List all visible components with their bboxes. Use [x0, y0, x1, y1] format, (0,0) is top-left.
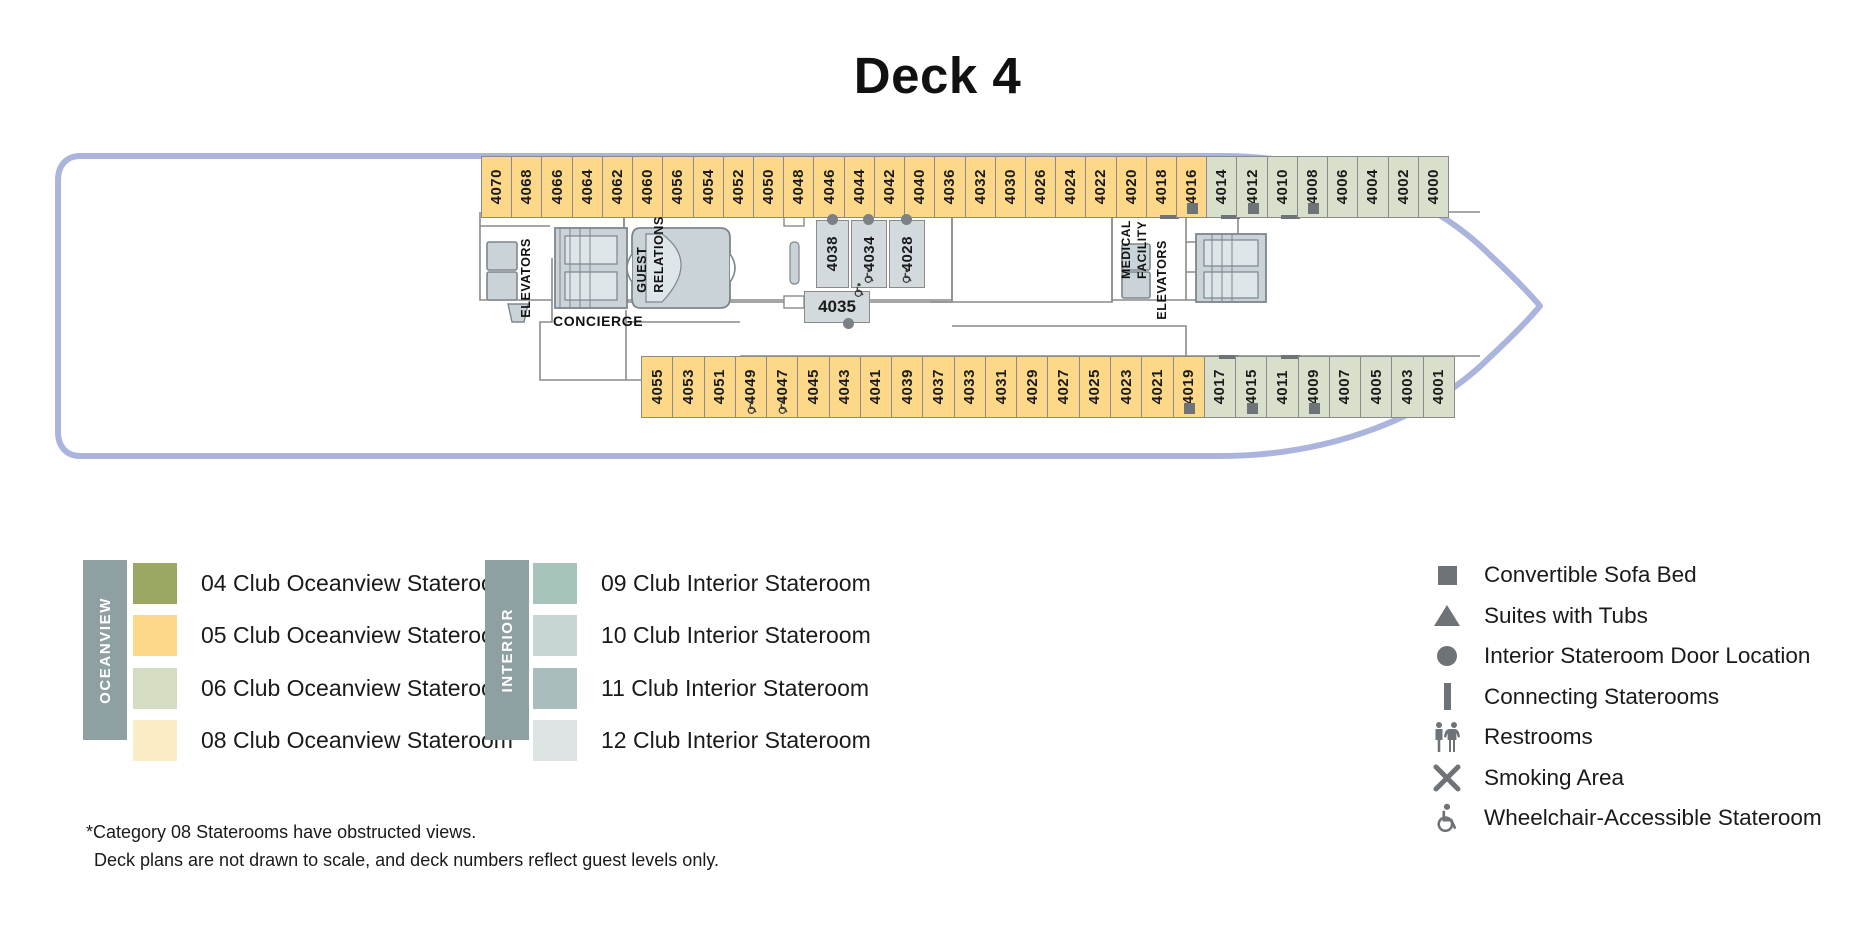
- cabin-4010[interactable]: 4010: [1267, 156, 1298, 218]
- legend-item: 05 Club Oceanview Stateroom: [133, 610, 528, 663]
- symbol-legend-label: Interior Stateroom Door Location: [1484, 643, 1810, 669]
- footnote: *Category 08 Staterooms have obstructed …: [86, 819, 719, 875]
- legend-item: 10 Club Interior Stateroom: [533, 610, 871, 663]
- cabin-number: 4034: [862, 236, 877, 271]
- wheelchair-icon: [899, 268, 915, 284]
- circle-icon: [901, 214, 912, 225]
- legend-item: 08 Club Oceanview Stateroom *: [133, 715, 528, 768]
- cabin-number: 4000: [1426, 169, 1441, 204]
- cabin-number: 4015: [1244, 369, 1259, 404]
- cabin-4060[interactable]: 4060: [632, 156, 663, 218]
- symbol-legend-label: Smoking Area: [1484, 765, 1624, 791]
- cabin-number: 4041: [868, 369, 883, 404]
- label-elevators-forward: ELEVATORS: [1155, 240, 1169, 320]
- cabin-number: 4043: [837, 369, 852, 404]
- square-icon: [1248, 203, 1259, 214]
- wheelchair-icon: [851, 282, 867, 298]
- mf-line1: MEDICAL: [1119, 220, 1133, 279]
- cabin-4040[interactable]: 4040: [904, 156, 935, 218]
- symbol-legend-item: Connecting Staterooms: [1424, 677, 1822, 718]
- cabin-number: 4054: [701, 169, 716, 204]
- cabin-4011[interactable]: 4011: [1266, 356, 1298, 418]
- page-title: Deck 4: [0, 46, 1875, 105]
- cabin-4017[interactable]: 4017: [1204, 356, 1236, 418]
- cabin-4042[interactable]: 4042: [874, 156, 905, 218]
- square-icon: [1184, 403, 1195, 414]
- cabin-4021[interactable]: 4021: [1141, 356, 1173, 418]
- oceanview-label: OCEANVIEW: [97, 597, 114, 704]
- cabin-4022[interactable]: 4022: [1085, 156, 1116, 218]
- cabin-number: 4062: [610, 169, 625, 204]
- cabin-number: 4027: [1056, 369, 1071, 404]
- cabin-4015[interactable]: 4015: [1235, 356, 1267, 418]
- cabin-4056[interactable]: 4056: [662, 156, 693, 218]
- cabin-4068[interactable]: 4068: [511, 156, 542, 218]
- legend-label: 12 Club Interior Stateroom: [601, 727, 871, 754]
- symbol-legend-label: Wheelchair-Accessible Stateroom: [1484, 805, 1822, 831]
- cabin-4028[interactable]: 4028: [889, 220, 925, 288]
- square-icon: [1309, 403, 1320, 414]
- cabin-number: 4033: [962, 369, 977, 404]
- cabin-4062[interactable]: 4062: [602, 156, 633, 218]
- cabin-number: 4060: [640, 169, 655, 204]
- cabin-number: 4053: [681, 369, 696, 404]
- vertical-bar-icon: [1424, 680, 1470, 714]
- cabin-number: 4008: [1305, 169, 1320, 204]
- cabin-number: 4029: [1025, 369, 1040, 404]
- cabin-number: 4044: [852, 169, 867, 204]
- legend-item: 09 Club Interior Stateroom: [533, 557, 871, 610]
- cabin-4064[interactable]: 4064: [572, 156, 603, 218]
- cabin-4004[interactable]: 4004: [1357, 156, 1388, 218]
- cabin-4048[interactable]: 4048: [783, 156, 814, 218]
- cabin-number: 4030: [1003, 169, 1018, 204]
- cabin-4035[interactable]: 4035: [804, 291, 870, 323]
- cabin-number: 4020: [1124, 169, 1139, 204]
- cabin-number: 4045: [806, 369, 821, 404]
- stateroom-row-starboard: 4055405340514049404740454043404140394037…: [641, 356, 1454, 418]
- label-medical-facility: MEDICAL FACILITY: [1118, 220, 1150, 279]
- cabin-4032[interactable]: 4032: [965, 156, 996, 218]
- cabin-number: 4021: [1150, 369, 1165, 404]
- cabin-number: 4031: [994, 369, 1009, 404]
- cabin-number: 4012: [1245, 169, 1260, 204]
- cabin-number: 4018: [1154, 169, 1169, 204]
- cabin-number: 4036: [942, 169, 957, 204]
- symbol-legend-label: Convertible Sofa Bed: [1484, 562, 1697, 588]
- legend-label: 06 Club Oceanview Stateroom: [201, 675, 513, 702]
- cabin-4000[interactable]: 4000: [1418, 156, 1449, 218]
- cabin-number: 4052: [731, 169, 746, 204]
- cabin-4005[interactable]: 4005: [1360, 356, 1392, 418]
- cabin-4023[interactable]: 4023: [1110, 356, 1142, 418]
- cabin-number: 4023: [1119, 369, 1134, 404]
- restrooms-icon: [1424, 720, 1470, 754]
- legend-label: 10 Club Interior Stateroom: [601, 622, 871, 649]
- cabin-number: 4070: [489, 169, 504, 204]
- cabin-4029[interactable]: 4029: [1016, 356, 1048, 418]
- cabin-4031[interactable]: 4031: [985, 356, 1017, 418]
- cabin-number: 4046: [822, 169, 837, 204]
- cabin-number: 4068: [519, 169, 534, 204]
- cabin-number: 4035: [818, 297, 856, 317]
- cabin-4038[interactable]: 4038: [816, 220, 849, 288]
- symbol-legend-label: Connecting Staterooms: [1484, 684, 1719, 710]
- cabin-number: 4016: [1184, 169, 1199, 204]
- cabin-4034[interactable]: 4034: [851, 220, 887, 288]
- cabin-number: 4019: [1181, 369, 1196, 404]
- square-icon: [1424, 558, 1470, 592]
- legend-swatch: [133, 563, 177, 604]
- legend-category-oceanview: OCEANVIEW: [83, 560, 127, 740]
- cabin-4051[interactable]: 4051: [704, 356, 736, 418]
- cabin-4049[interactable]: 4049: [735, 356, 767, 418]
- cabin-4047[interactable]: 4047: [766, 356, 798, 418]
- cabin-number: 4064: [580, 169, 595, 204]
- cabin-4002[interactable]: 4002: [1388, 156, 1419, 218]
- cabin-number: 4051: [712, 369, 727, 404]
- symbol-legend-item: Restrooms: [1424, 717, 1822, 758]
- wheelchair-icon: [744, 399, 760, 415]
- cabin-number: 4010: [1275, 169, 1290, 204]
- cabin-4024[interactable]: 4024: [1055, 156, 1086, 218]
- interior-label: INTERIOR: [499, 608, 516, 692]
- stateroom-row-port: 4070406840664064406240604056405440524050…: [481, 156, 1448, 218]
- cabin-4007[interactable]: 4007: [1329, 356, 1361, 418]
- symbol-legend-item: Wheelchair-Accessible Stateroom: [1424, 798, 1822, 839]
- cabin-4039[interactable]: 4039: [891, 356, 923, 418]
- legend-item: 06 Club Oceanview Stateroom: [133, 662, 528, 715]
- cabin-number: 4001: [1431, 369, 1446, 404]
- circle-icon: [843, 318, 854, 329]
- cabin-number: 4024: [1063, 169, 1078, 204]
- cabin-4019[interactable]: 4019: [1173, 356, 1205, 418]
- cabin-4054[interactable]: 4054: [693, 156, 724, 218]
- label-concierge: CONCIERGE: [553, 313, 643, 329]
- cabin-4045[interactable]: 4045: [797, 356, 829, 418]
- cabin-number: 4037: [931, 369, 946, 404]
- cabin-number: 4003: [1400, 369, 1415, 404]
- cabin-number: 4042: [882, 169, 897, 204]
- mf-line2: FACILITY: [1135, 221, 1149, 279]
- cabin-4070[interactable]: 4070: [481, 156, 512, 218]
- cabin-4020[interactable]: 4020: [1116, 156, 1147, 218]
- triangle-icon: [1424, 599, 1470, 633]
- cabin-4043[interactable]: 4043: [829, 356, 861, 418]
- symbol-legend-item: Suites with Tubs: [1424, 596, 1822, 637]
- legend-item: 11 Club Interior Stateroom: [533, 662, 871, 715]
- circle-icon: [827, 214, 838, 225]
- legend-label: 04 Club Oceanview Stateroom: [201, 570, 513, 597]
- cabin-4066[interactable]: 4066: [541, 156, 572, 218]
- cabin-number: 4002: [1396, 169, 1411, 204]
- symbol-legend-item: Convertible Sofa Bed: [1424, 555, 1822, 596]
- symbol-legend-item: Interior Stateroom Door Location: [1424, 636, 1822, 677]
- symbol-legend-item: Smoking Area: [1424, 758, 1822, 799]
- gr-line1: GUEST: [635, 247, 649, 293]
- cabin-4046[interactable]: 4046: [813, 156, 844, 218]
- cabin-4053[interactable]: 4053: [672, 356, 704, 418]
- deck-plan: 4070406840664064406240604056405440524050…: [0, 150, 1875, 460]
- cabin-4027[interactable]: 4027: [1047, 356, 1079, 418]
- cabin-4050[interactable]: 4050: [753, 156, 784, 218]
- legend-items-interior: 09 Club Interior Stateroom10 Club Interi…: [533, 557, 871, 767]
- cabin-number: 4066: [550, 169, 565, 204]
- legend-items-oceanview: 04 Club Oceanview Stateroom05 Club Ocean…: [133, 557, 528, 767]
- legend-label: 08 Club Oceanview Stateroom *: [201, 727, 528, 754]
- cabin-4001[interactable]: 4001: [1423, 356, 1455, 418]
- cabin-number: 4017: [1212, 369, 1227, 404]
- cabin-4055[interactable]: 4055: [641, 356, 673, 418]
- cabin-number: 4028: [900, 236, 915, 271]
- legend-label: 09 Club Interior Stateroom: [601, 570, 871, 597]
- cabin-4016[interactable]: 4016: [1176, 156, 1207, 218]
- cabin-number: 4011: [1275, 370, 1290, 405]
- square-icon: [1187, 203, 1198, 214]
- label-guest-relations: GUEST RELATIONS: [634, 216, 668, 293]
- cabin-number: 4026: [1033, 169, 1048, 204]
- wheelchair-icon: [1424, 801, 1470, 835]
- legend-swatch: [133, 720, 177, 761]
- footnote-line-1: *Category 08 Staterooms have obstructed …: [86, 819, 719, 847]
- gr-line2: RELATIONS: [652, 216, 666, 293]
- legend-item: 12 Club Interior Stateroom: [533, 715, 871, 768]
- cabin-4003[interactable]: 4003: [1391, 356, 1423, 418]
- cabin-4037[interactable]: 4037: [922, 356, 954, 418]
- cabin-4025[interactable]: 4025: [1079, 356, 1111, 418]
- cabin-number: 4014: [1214, 169, 1229, 204]
- cabin-4018[interactable]: 4018: [1146, 156, 1177, 218]
- footnote-line-2: Deck plans are not drawn to scale, and d…: [86, 847, 719, 875]
- cabin-number: 4048: [791, 169, 806, 204]
- square-icon: [1308, 203, 1319, 214]
- symbol-legend: Convertible Sofa BedSuites with TubsInte…: [1424, 555, 1822, 839]
- cabin-4026[interactable]: 4026: [1025, 156, 1056, 218]
- cabin-number: 4007: [1337, 369, 1352, 404]
- circle-icon: [863, 214, 874, 225]
- symbol-legend-label: Restrooms: [1484, 724, 1593, 750]
- cabin-4036[interactable]: 4036: [934, 156, 965, 218]
- legend-category-interior: INTERIOR: [485, 560, 529, 740]
- x-icon: [1424, 761, 1470, 795]
- cabin-number: 4004: [1365, 169, 1380, 204]
- legend-swatch: [533, 720, 577, 761]
- aft-stairwell: [555, 228, 627, 308]
- legend-label: 05 Club Oceanview Stateroom: [201, 622, 513, 649]
- cabin-4009[interactable]: 4009: [1298, 356, 1330, 418]
- cabin-4006[interactable]: 4006: [1327, 156, 1358, 218]
- legend-label: 11 Club Interior Stateroom: [601, 675, 869, 702]
- cabin-4052[interactable]: 4052: [723, 156, 754, 218]
- symbol-legend-label: Suites with Tubs: [1484, 603, 1648, 629]
- cabin-4014[interactable]: 4014: [1206, 156, 1237, 218]
- cabin-4033[interactable]: 4033: [954, 356, 986, 418]
- cabin-number: 4022: [1093, 169, 1108, 204]
- forward-stairwell: [1196, 234, 1266, 302]
- cabin-4012[interactable]: 4012: [1236, 156, 1267, 218]
- legend-swatch: [133, 668, 177, 709]
- cabin-number: 4006: [1335, 169, 1350, 204]
- cabin-number: 4005: [1369, 369, 1384, 404]
- wheelchair-icon: [775, 399, 791, 415]
- cabin-number: 4055: [650, 369, 665, 404]
- circle-icon: [1424, 639, 1470, 673]
- cabin-number: 4056: [670, 169, 685, 204]
- cabin-number: 4050: [761, 169, 776, 204]
- label-elevators-aft: ELEVATORS: [519, 238, 533, 318]
- cabin-number: 4038: [825, 236, 840, 271]
- cabin-number: 4025: [1087, 369, 1102, 404]
- legend-swatch: [533, 668, 577, 709]
- cabin-4030[interactable]: 4030: [995, 156, 1026, 218]
- cabin-number: 4040: [912, 169, 927, 204]
- legend-swatch: [133, 615, 177, 656]
- legend-item: 04 Club Oceanview Stateroom: [133, 557, 528, 610]
- cabin-4041[interactable]: 4041: [860, 356, 892, 418]
- legend-swatch: [533, 615, 577, 656]
- legend-swatch: [533, 563, 577, 604]
- cabin-number: 4039: [900, 369, 915, 404]
- cabin-4044[interactable]: 4044: [844, 156, 875, 218]
- cabin-number: 4032: [973, 169, 988, 204]
- cabin-4008[interactable]: 4008: [1297, 156, 1328, 218]
- cabin-number: 4009: [1306, 369, 1321, 404]
- square-icon: [1247, 403, 1258, 414]
